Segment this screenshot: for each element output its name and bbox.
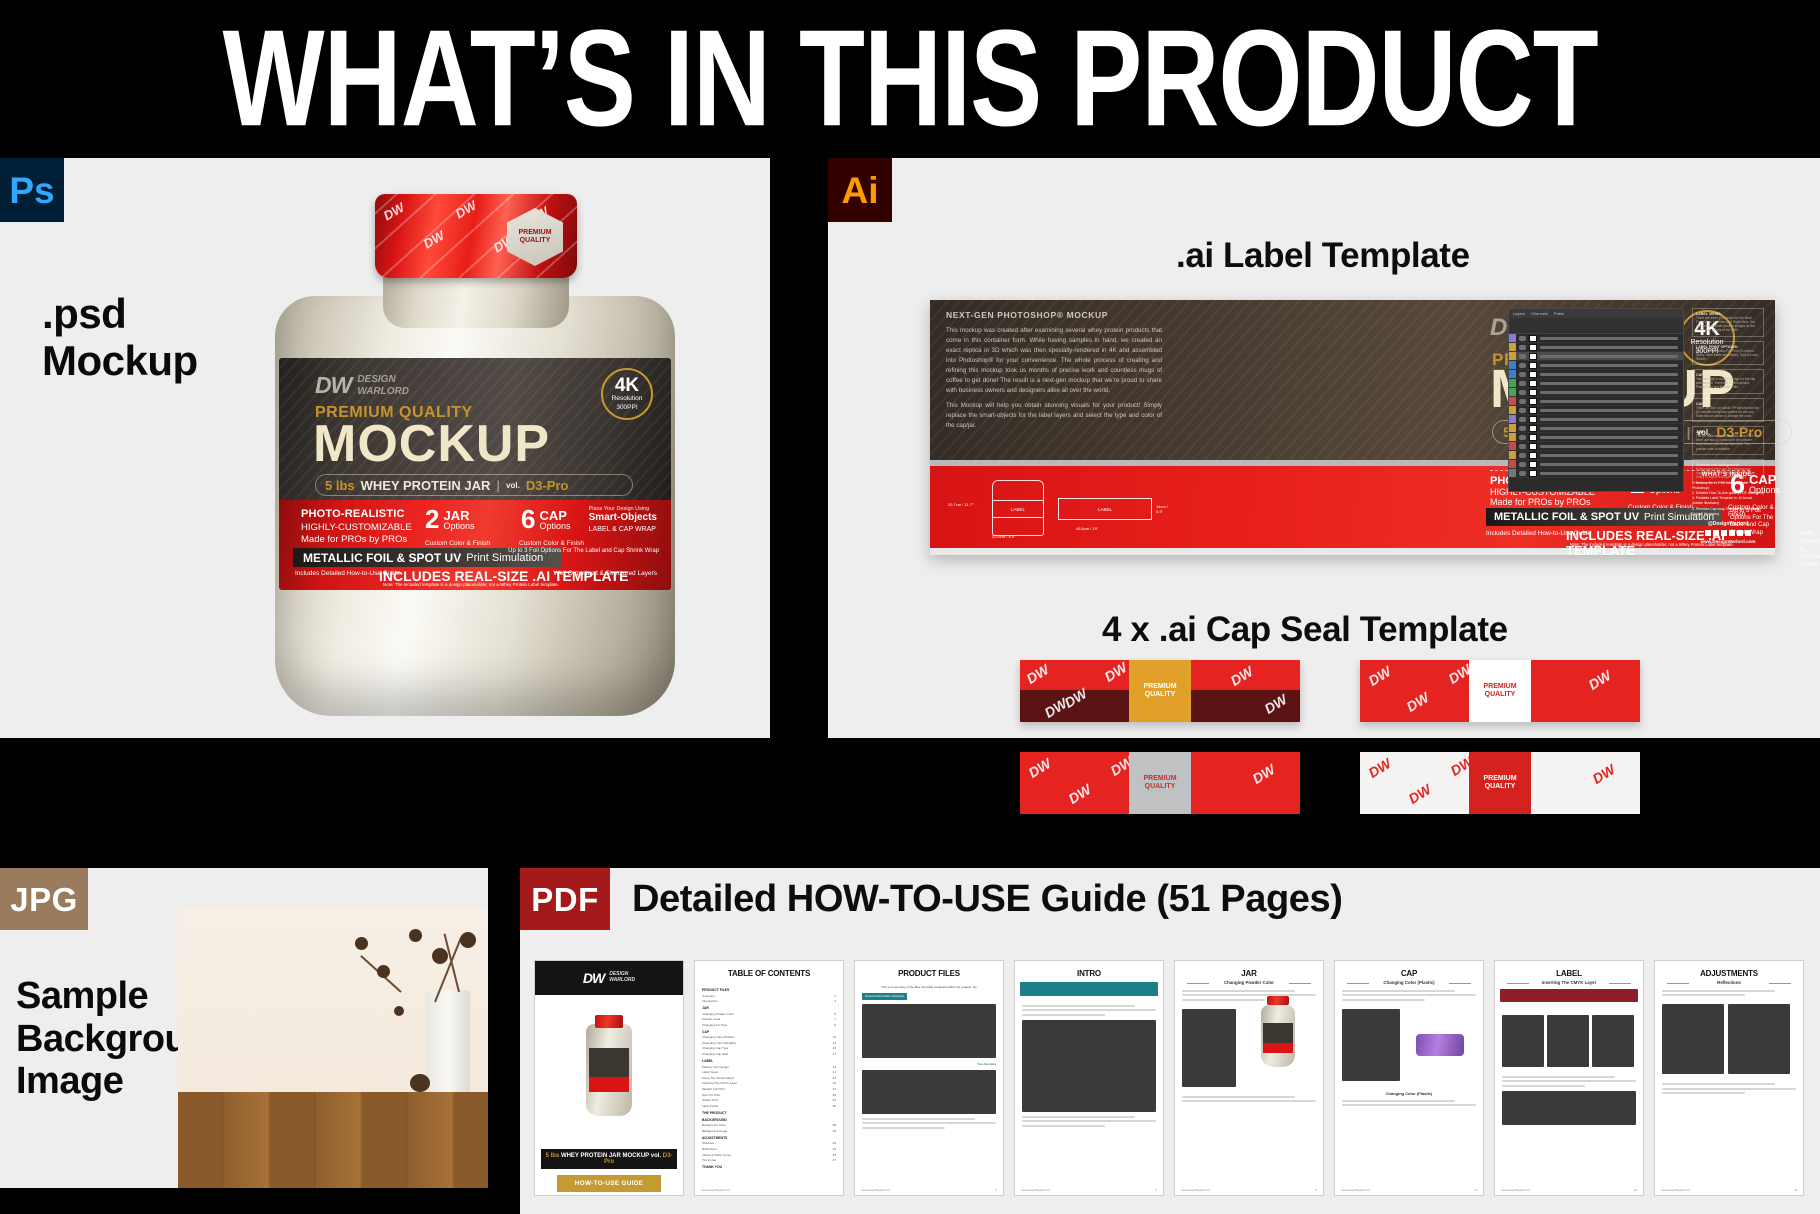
intro-paragraph-2: This Mockup will help you obtain stunnin…: [946, 401, 1162, 431]
cap-options-sub: Custom Color & Finish: [519, 540, 584, 547]
label-dark-section: DW DESIGN WARLORD 4K Resolution 300PPI P…: [279, 358, 671, 500]
website-url: www.DesignWarlord.com: [1692, 539, 1764, 544]
whats-inside-block: WHAT’S INSIDE: 1. Mockup file in .PSD fo…: [1692, 472, 1764, 544]
premium-quality-seal-badge: PREMIUM QUALITY: [1129, 752, 1191, 814]
pdf-page-intro[interactable]: INTRO www.DesignWarlord.com3: [1014, 960, 1164, 1196]
screenshot: [1728, 1004, 1790, 1074]
toc-group-head: ADJUSTMENTS: [702, 1136, 836, 1140]
photo-pod: [355, 937, 368, 950]
toc-item: Reflections43: [702, 1147, 836, 1151]
note-text: You can have a custom design for the cap…: [1696, 377, 1760, 389]
badge-4k-value: 4K: [615, 376, 639, 395]
facebook-icon[interactable]: [1713, 530, 1719, 536]
jar-options-stat: 2 JAR Options: [425, 508, 475, 531]
cap-dw-pattern: DW: [453, 198, 479, 222]
dimension-label-flat: LABEL: [1058, 498, 1152, 520]
badge-ppi-value: 300PPI: [616, 404, 637, 412]
band-vol: vol.: [651, 1153, 661, 1159]
page-body: Changing Color (Plastic): [1335, 985, 1483, 1114]
metallic-bold-text: METALLIC FOIL & SPOT UV: [1494, 511, 1639, 523]
instagram-icon[interactable]: [1721, 530, 1727, 536]
toc-item: Label Finish35: [702, 1104, 836, 1108]
tab-layers: Layers: [1513, 311, 1525, 316]
template-metallic-bar: METALLIC FOIL & SPOT UV Print Simulation: [1486, 508, 1722, 526]
product-weight: 5 lbs: [325, 478, 355, 493]
ai-label-template-heading: .ai Label Template: [1176, 236, 1470, 276]
toc-group-head: LABEL: [702, 1059, 836, 1063]
photo-pod: [377, 965, 390, 978]
pdf-page-label[interactable]: LABEL Inserting The CMYK Layer www.Desig…: [1494, 960, 1644, 1196]
brand-wordmark: DESIGN WARLORD: [609, 972, 635, 984]
layer-row: [1509, 397, 1683, 406]
metallic-bold-text: METALLIC FOIL & SPOT UV: [303, 551, 461, 565]
cover-product-band: 5 lbs WHEY PROTEIN JAR MOCKUP vol. D3-Pr…: [541, 1149, 677, 1169]
toc-group-head: CAP: [702, 1030, 836, 1034]
brand-mark: DW: [583, 970, 604, 986]
photo-pod: [460, 932, 476, 948]
tab-channels: Channels: [1531, 311, 1548, 316]
toc-group-head: JAR: [702, 1006, 836, 1010]
mini-jar: [1261, 1005, 1295, 1067]
folder-tag: Product Parent Folder (Unzipped): [862, 993, 907, 1000]
toc-item: Overview1: [702, 994, 836, 998]
dimension-label-front: LABEL: [992, 500, 1044, 518]
toc-item: Using The Smart-Object22: [702, 1076, 836, 1080]
band-weight: 5 lbs: [546, 1153, 560, 1159]
page-footer: www.DesignWarlord.com3: [1015, 1189, 1163, 1192]
layer-row: [1509, 379, 1683, 388]
toc-group-head: THANK YOU: [702, 1165, 836, 1169]
seal-badge-line2: QUALITY: [1145, 691, 1176, 699]
social-handle: @DesignWarlord: [1692, 521, 1764, 527]
screenshot: [1592, 1015, 1634, 1067]
toc-item: Powder Level7: [702, 1017, 836, 1021]
photoshop-layers-panel: Layers Channels Paths: [1508, 308, 1684, 492]
page-title: TABLE OF CONTENTS: [695, 969, 843, 978]
cap-seal-variant-gold: DW DW DW DW DW DW PREMIUM QUALITY: [1020, 660, 1300, 722]
toc-body: PRODUCT FILES Overview1 Introduction3 JA…: [695, 980, 843, 1176]
page-title: JAR: [1175, 969, 1323, 978]
note-cap-seal: CAP SEAL: You can have a custom design f…: [1692, 369, 1764, 393]
smart-objects-title: Smart-Objects: [589, 512, 657, 523]
seal-badge-line1: PREMIUM: [1483, 775, 1516, 783]
linkedin-icon[interactable]: [1729, 530, 1735, 536]
toc-item: Changing Powder Color5: [702, 1012, 836, 1016]
intro-heading: NEXT-GEN PHOTOSHOP® MOCKUP: [946, 310, 1162, 320]
screenshot: [1547, 1015, 1589, 1067]
toc-item: Changing Cap Seal17: [702, 1052, 836, 1056]
psd-caption: .psd Mockup: [42, 290, 198, 384]
page-body: [1495, 1006, 1643, 1134]
feature-customizable: HIGHLY-CUSTOMIZABLE: [301, 522, 412, 533]
page-footer: www.DesignWarlord.com43: [1655, 1189, 1803, 1192]
layer-row: [1509, 424, 1683, 433]
social-icons: [1692, 530, 1764, 536]
behance-icon[interactable]: [1705, 530, 1711, 536]
layers-panel-tabs: Layers Channels Paths: [1509, 309, 1683, 318]
smart-objects-block: Place Your Design Using Smart-Objects LA…: [589, 506, 657, 533]
brand-line-2: WARLORD: [357, 386, 409, 398]
photo-pod: [394, 1006, 404, 1016]
photo-pod: [409, 929, 422, 942]
cap-seal-variant-red-on-white: DW DW DW DW PREMIUM QUALITY: [1360, 752, 1640, 814]
note-text: There are three (3) options for the labe…: [1696, 316, 1760, 333]
pdf-page-thumbnails: DW DESIGN WARLORD 5 lbs WHEY PROTEIN JAR…: [534, 960, 1804, 1196]
toc-item: Introduction3: [702, 999, 836, 1003]
brand-line-1: DESIGN: [357, 374, 409, 386]
page-subtitle: Changing Color (Plastic): [1335, 980, 1483, 985]
section-divider-label: Changing Color (Plastic): [1342, 1091, 1476, 1096]
sample-background-photo: [178, 908, 488, 1188]
page-footer: www.DesignWarlord.com5: [1175, 1189, 1323, 1192]
layer-row: [1509, 370, 1683, 379]
toc-group-head: PRODUCT FILES: [702, 988, 836, 992]
screenshot: [1502, 1091, 1636, 1125]
whats-inside-heading: WHAT’S INSIDE:: [1692, 472, 1764, 478]
dimension-height: 29.7cm / 11.7": [948, 502, 973, 507]
intro-text-block: NEXT-GEN PHOTOSHOP® MOCKUP This mockup w…: [946, 310, 1162, 436]
layer-row: [1509, 451, 1683, 460]
layer-row: [1509, 388, 1683, 397]
toc-item: Changing Color (Metallic)13: [702, 1041, 836, 1045]
toc-item: Changing Cap Type15: [702, 1046, 836, 1050]
seal-badge-line1: PREMIUM: [1143, 775, 1176, 783]
premium-quality-seal-badge: PREMIUM QUALITY: [1469, 752, 1531, 814]
layer-row: [1509, 433, 1683, 442]
layer-row: [1509, 343, 1683, 352]
page-title: LABEL: [1495, 969, 1643, 978]
ai-label-template-artboard: NEXT-GEN PHOTOSHOP® MOCKUP This mockup w…: [930, 300, 1775, 555]
photo-pod: [410, 1074, 430, 1092]
page-body: [1015, 1000, 1163, 1134]
label-red-section: PHOTO-REALISTIC HIGHLY-CUSTOMIZABLE Made…: [279, 500, 671, 590]
pdf-page-cap[interactable]: CAP Changing Color (Plastic) Changing Co…: [1334, 960, 1484, 1196]
page-title-bar: WHAT’S IN THIS PRODUCT: [0, 0, 1820, 158]
jar-options-text: JAR Options: [443, 509, 474, 532]
toc-item: Metallic Foil Print27: [702, 1087, 836, 1091]
dimension-rect-height: 14cm / 5.5": [1156, 504, 1176, 514]
layer-row: [1509, 415, 1683, 424]
brand-line-2: WARLORD: [609, 978, 635, 984]
screenshot: [1662, 1004, 1724, 1074]
jpg-icon: JPG: [0, 868, 88, 930]
whats-inside-item: 1. Mockup file in .PSD format (Adobe Pho…: [1692, 481, 1764, 491]
pdf-icon: PDF: [520, 868, 610, 930]
page-footer: www.DesignWarlord.com: [695, 1189, 843, 1192]
brand-wordmark: DESIGN WARLORD: [357, 374, 409, 397]
premium-quality-seal-badge: PREMIUM QUALITY: [1129, 660, 1191, 722]
page-title: WHAT’S IN THIS PRODUCT: [222, 10, 1597, 147]
seal-badge-line2: QUALITY: [520, 237, 551, 245]
mockup-wordmark: MOCKUP: [313, 418, 550, 470]
intro-paragraph-1: This mockup was created after examining …: [946, 326, 1162, 396]
feature-made-for-pros: Made for PROs by PROs: [301, 534, 407, 545]
toc-item: Tint & Hue47: [702, 1158, 836, 1162]
page-title: CAP: [1335, 969, 1483, 978]
protein-jar-render: DW DW DW DW DW PREMIUM QUALITY DW DESIGN…: [265, 188, 685, 733]
page-footer: www.DesignWarlord.com2: [855, 1189, 1003, 1192]
layer-row: [1509, 469, 1683, 478]
layer-row: [1509, 334, 1683, 343]
pdf-page-jar[interactable]: JAR Changing Powder Color www.DesignWarl…: [1174, 960, 1324, 1196]
psd-caption-line2: Mockup: [42, 337, 198, 384]
panel-jpg-background: JPG Sample Background Image: [0, 868, 488, 1188]
warning-callout: [1500, 989, 1638, 1002]
divider: |: [496, 478, 500, 493]
label-dimension-diagram: LABEL LABEL 29.7cm / 11.7" 22.6cm / 8.9"…: [946, 476, 1176, 540]
cap-word: CAP: [539, 509, 570, 522]
pdf-page-table-of-contents[interactable]: TABLE OF CONTENTS PRODUCT FILES Overview…: [694, 960, 844, 1196]
seal-badge-line1: PREMIUM: [1483, 683, 1516, 691]
illustrator-icon: Ai: [828, 158, 892, 222]
template-layers-note: Well Organized & Structured Layers: [1800, 530, 1820, 569]
feature-photo-realistic: PHOTO-REALISTIC: [301, 508, 405, 520]
intro-highlight-box: [1020, 982, 1158, 996]
seal-badge-line1: PREMIUM: [1143, 683, 1176, 691]
smart-objects-sub: LABEL & CAP WRAP: [589, 526, 657, 533]
cap-dw-pattern: DW: [421, 228, 447, 252]
page-subtitle: Changing Powder Color: [1175, 980, 1323, 985]
cap-options-count: 6: [521, 508, 535, 531]
cap-options-stat: 6 CAP Options: [521, 508, 571, 531]
toc-item: Background Color38: [702, 1123, 836, 1127]
note-text: The jar material is transparent clear PE…: [1696, 434, 1760, 451]
note-text: CMYK Print, Metallic Foil Print (3 optio…: [1696, 349, 1760, 361]
note-label-print-options: LABEL PRINT OPTIONS: CMYK Print, Metalli…: [1692, 341, 1764, 365]
page-body: This is a summary of the files internall…: [855, 980, 1003, 1136]
layers-panel-controls: [1509, 318, 1683, 334]
layer-row: [1509, 442, 1683, 451]
screenshot: [1022, 1020, 1156, 1112]
whats-inside-item: 3. Printable Label Template in .AI forma…: [1692, 496, 1764, 506]
tab-paths: Paths: [1554, 311, 1564, 316]
screenshot: [862, 1004, 996, 1058]
page-title: ADJUSTMENTS: [1655, 969, 1803, 978]
you-are-here-note: You Are Here: [862, 1062, 996, 1066]
toc-item: Background Image40: [702, 1129, 836, 1133]
youtube-icon[interactable]: [1745, 530, 1751, 536]
toc-item: Spot UV Print30: [702, 1093, 836, 1097]
page-subtitle: Inserting The CMYK Layer: [1495, 980, 1643, 985]
pdf-page-cover[interactable]: DW DESIGN WARLORD 5 lbs WHEY PROTEIN JAR…: [534, 960, 684, 1196]
jar-cap-shrink-wrap: DW DW DW DW DW PREMIUM QUALITY: [375, 194, 577, 278]
how-to-use-guide-button[interactable]: HOW-TO-USE GUIDE: [557, 1175, 661, 1192]
toc-item: Yellow & Warm Tones45: [702, 1153, 836, 1157]
badge-resolution-label: Resolution: [612, 395, 643, 403]
photo-pod: [432, 948, 448, 964]
template-disclaimer: Note: The included template is a design …: [383, 582, 559, 587]
toc-item: Changing Color (Plastic)11: [702, 1035, 836, 1039]
premium-quality-seal-badge: PREMIUM QUALITY: [507, 208, 563, 266]
jar-word: JAR: [443, 509, 474, 522]
note-label-views: LABEL VIEWS: There are three (3) options…: [1692, 308, 1764, 337]
photoshop-icon: Ps: [0, 158, 64, 222]
layer-row: [1509, 406, 1683, 415]
smart-objects-pre: Place Your Design Using: [589, 506, 657, 512]
premium-quality-seal-badge: PREMIUM QUALITY: [1469, 660, 1531, 722]
toc-item: Shadows42: [702, 1141, 836, 1145]
foil-options-note: Up to 3 Foil Options For The Label and C…: [508, 548, 659, 555]
cap-options-text: CAP Options: [539, 509, 570, 532]
page-footer: www.DesignWarlord.com24: [1495, 1189, 1643, 1192]
jar-options-label: Options: [443, 522, 474, 532]
volume-prefix: vol.: [506, 481, 520, 490]
volume-value: D3-Pro: [526, 478, 569, 493]
psd-caption-line1: .psd: [42, 290, 198, 337]
cap-dw-pattern: DW: [381, 200, 407, 224]
note-text: There are four (4) plastic PP options an…: [1696, 406, 1760, 418]
pdf-page-adjustments[interactable]: ADJUSTMENTS Reflections www.DesignWarlor…: [1654, 960, 1804, 1196]
brand-mark: DW: [315, 372, 351, 399]
toc-item: Sticker Print33: [702, 1098, 836, 1102]
divider: |: [1687, 424, 1691, 440]
product-type: WHEY PROTEIN JAR: [361, 478, 491, 493]
panel-pdf-guide: PDF Detailed HOW-TO-USE Guide (51 Pages)…: [520, 868, 1820, 1214]
toc-item: Label Views21: [702, 1070, 836, 1074]
page-subtitle: This is a summary of the files internall…: [862, 985, 996, 989]
page-title: INTRO: [1015, 969, 1163, 978]
cover-jar-image: [535, 995, 683, 1145]
toc-item: Changing Jar Type9: [702, 1023, 836, 1027]
ai-cap-seal-heading: 4 x .ai Cap Seal Template: [1102, 610, 1508, 650]
pdf-page-product-files[interactable]: PRODUCT FILES This is a summary of the f…: [854, 960, 1004, 1196]
panel-ai-templates: Ai .ai Label Template 4 x .ai Cap Seal T…: [828, 158, 1820, 738]
product-descriptor-pill: 5 lbs WHEY PROTEIN JAR | vol. D3-Pro: [315, 474, 633, 496]
page-body: [1175, 985, 1323, 1110]
page-subtitle: Reflections: [1655, 980, 1803, 985]
jar-options-count: 2: [425, 508, 439, 531]
layer-row: [1509, 361, 1683, 370]
toc-item: Placing Your Design19: [702, 1065, 836, 1069]
seal-badge-line2: QUALITY: [1485, 691, 1516, 699]
seal-badge-line2: QUALITY: [1145, 783, 1176, 791]
layer-row: [1509, 460, 1683, 469]
toc-group-head: THE PRODUCT: [702, 1111, 836, 1115]
screenshot: [1502, 1015, 1544, 1067]
seal-badge-line1: PREMIUM: [518, 229, 551, 237]
cap-color-sample: [1416, 1034, 1464, 1056]
toc-group-head: BACKGROUND: [702, 1118, 836, 1122]
whats-inside-item: 4. Premium Cap wrap Template in .AI form…: [1692, 507, 1764, 517]
note-jar: JAR: The jar material is transparent cle…: [1692, 426, 1764, 455]
cap-options-label: Options: [539, 522, 570, 532]
cover-brand-header: DW DESIGN WARLORD: [535, 961, 683, 995]
template-notes-column: LABEL VIEWS: There are three (3) options…: [1692, 308, 1764, 487]
seal-badge-line2: QUALITY: [1485, 783, 1516, 791]
cap-seal-variant-white: DW DW DW DW PREMIUM QUALITY: [1360, 660, 1640, 722]
product-showcase-page: WHAT’S IN THIS PRODUCT Ps .psd Mockup DW…: [0, 0, 1820, 1214]
page-footer: www.DesignWarlord.com11: [1335, 1189, 1483, 1192]
screenshot: [1182, 1009, 1236, 1087]
note-cap: CAP: There are four (4) plastic PP optio…: [1692, 398, 1764, 422]
layers-note: Well Organized & Structured Layers: [553, 570, 657, 578]
twitter-icon[interactable]: [1737, 530, 1743, 536]
photo-vase: [426, 990, 470, 1100]
jar-options-sub: Custom Color & Finish: [425, 540, 490, 547]
pdf-guide-heading: Detailed HOW-TO-USE Guide (51 Pages): [632, 878, 1343, 921]
screenshot: [862, 1070, 996, 1114]
resolution-badge: 4K Resolution 300PPI: [601, 368, 653, 420]
dimension-width: 22.6cm / 8.9": [992, 534, 1015, 539]
mini-jar: [586, 1024, 632, 1116]
panel-psd-mockup: Ps .psd Mockup DW DW DW DW DW PREMIUM QU…: [0, 158, 770, 738]
photo-wood-floor: [178, 1092, 488, 1188]
brand-logo: DW DESIGN WARLORD: [315, 372, 409, 399]
cap-seal-variant-silver: DW DW DW DW PREMIUM QUALITY: [1020, 752, 1300, 814]
jar-label-artwork: DW DESIGN WARLORD 4K Resolution 300PPI P…: [279, 358, 671, 590]
toc-item: Inserting The CMYK Layer24: [702, 1081, 836, 1085]
page-title: PRODUCT FILES: [855, 969, 1003, 978]
layer-row: [1509, 352, 1683, 361]
dimension-rect-width: 48.6cm / 19": [1076, 526, 1098, 531]
page-body: [1655, 985, 1803, 1102]
screenshot: [1342, 1009, 1400, 1081]
